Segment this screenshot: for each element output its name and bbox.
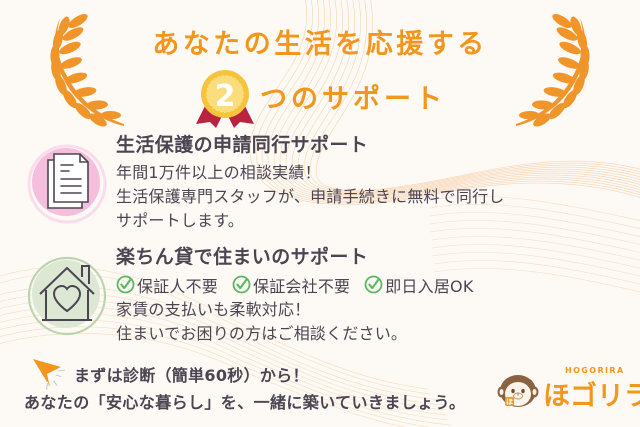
check-item: 保証人不要	[116, 273, 218, 297]
check-label: 保証会社不要	[253, 273, 350, 297]
banner-title-line-2: つのサポート	[260, 77, 446, 118]
cta-text-line-2: あなたの「安心な暮らし」を、一緒に築いていきましょう。	[24, 389, 465, 413]
medal-number: 2	[215, 79, 236, 114]
support-section-housing: 楽ちん貸で住まいのサポート 保証人不要 保証会社不要	[24, 246, 474, 346]
section-line: 生活保護専門スタッフが、申請手続きに無料で同行し	[116, 185, 504, 209]
section-heading: 生活保護の申請同行サポート	[116, 134, 504, 158]
check-circle-icon	[116, 275, 135, 294]
promotional-banner: あなたの生活を応援する 2 つのサポート	[0, 0, 640, 427]
check-circle-icon	[232, 275, 251, 294]
medal-badge-icon: 2	[194, 66, 256, 128]
check-label: 即日入居OK	[385, 273, 473, 297]
section-line: 住まいでお困りの方はご相談ください。	[116, 322, 474, 346]
gorilla-mascot-icon: ほ	[497, 372, 539, 408]
check-circle-icon	[364, 275, 383, 294]
check-label: 保証人不要	[137, 273, 218, 297]
brand-logo[interactable]: ほ HOGORIRA ほゴリラ	[497, 366, 629, 412]
section-line: 年間1万件以上の相談実績！	[116, 161, 504, 185]
banner-title-line-2-row: 2 つのサポート	[0, 66, 640, 128]
click-cursor-icon	[28, 356, 80, 392]
banner-title-line-1: あなたの生活を応援する	[0, 22, 640, 61]
cta-text-line-1: まずは診断（簡単60秒）から！	[74, 362, 309, 386]
banner-header: あなたの生活を応援する 2 つのサポート	[0, 0, 640, 126]
check-item: 保証会社不要	[232, 273, 350, 297]
house-heart-icon	[24, 246, 110, 346]
section-line: 家賃の支払いも柔軟対応！	[116, 298, 474, 322]
svg-text:ほ: ほ	[506, 398, 513, 406]
feature-check-row: 保証人不要 保証会社不要 即日入居OK	[116, 273, 474, 297]
brand-logo-name: ほゴリラ	[543, 374, 640, 413]
support-section-welfare: 生活保護の申請同行サポート 年間1万件以上の相談実績！ 生活保護専門スタッフが、…	[24, 134, 504, 234]
section-heading: 楽ちん貸で住まいのサポート	[116, 246, 474, 270]
section-line: サポートします。	[116, 209, 504, 233]
support-section-welfare-body: 生活保護の申請同行サポート 年間1万件以上の相談実績！ 生活保護専門スタッフが、…	[110, 134, 504, 234]
check-item: 即日入居OK	[364, 273, 473, 297]
documents-icon	[24, 134, 110, 234]
support-section-housing-body: 楽ちん貸で住まいのサポート 保証人不要 保証会社不要	[110, 246, 474, 346]
